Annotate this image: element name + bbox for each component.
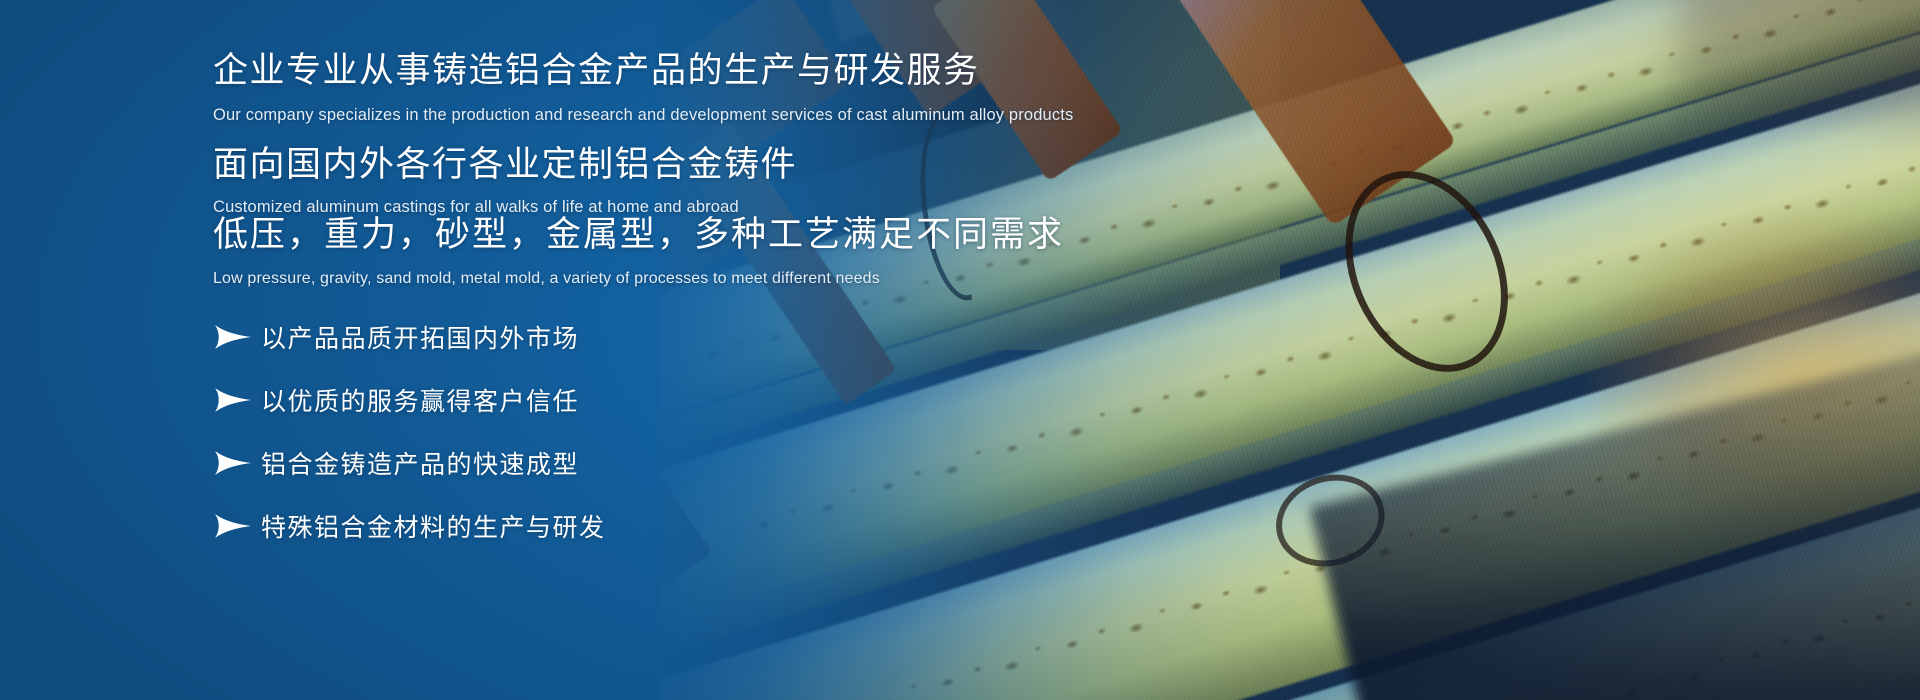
banner-content: 企业专业从事铸造铝合金产品的生产与研发服务 Our company specia…: [213, 0, 1613, 700]
arrow-right-icon: [213, 385, 261, 415]
hero-banner: 企业专业从事铸造铝合金产品的生产与研发服务 Our company specia…: [0, 0, 1920, 700]
arrow-right-icon: [213, 322, 261, 352]
bullet-label: 以优质的服务赢得客户信任: [261, 382, 579, 418]
headline-cn-3: 低压，重力，砂型，金属型，多种工艺满足不同需求: [213, 213, 1064, 257]
headline-block-3: 低压，重力，砂型，金属型，多种工艺满足不同需求 Low pressure, gr…: [213, 213, 1064, 288]
headline-en-3: Low pressure, gravity, sand mold, metal …: [213, 270, 1064, 288]
headline-cn-1: 企业专业从事铸造铝合金产品的生产与研发服务: [213, 49, 1073, 93]
arrow-right-icon: [213, 448, 261, 478]
arrow-right-icon: [213, 511, 261, 541]
headline-en-1: Our company specializes in the productio…: [213, 106, 1073, 125]
feature-bullet-list: 以产品品质开拓国内外市场 以优质的服务赢得客户信任 铝合金铸造产品的快速成型: [213, 318, 606, 545]
list-item[interactable]: 以产品品质开拓国内外市场: [213, 318, 606, 356]
list-item[interactable]: 铝合金铸造产品的快速成型: [213, 444, 606, 482]
bullet-label: 铝合金铸造产品的快速成型: [261, 445, 579, 481]
bullet-label: 以产品品质开拓国内外市场: [261, 319, 579, 355]
list-item[interactable]: 以优质的服务赢得客户信任: [213, 381, 606, 419]
bullet-label: 特殊铝合金材料的生产与研发: [261, 508, 606, 544]
list-item[interactable]: 特殊铝合金材料的生产与研发: [213, 507, 606, 545]
headline-block-2: 面向国内外各行各业定制铝合金铸件 Customized aluminum cas…: [213, 143, 797, 217]
headline-cn-2: 面向国内外各行各业定制铝合金铸件: [213, 143, 797, 187]
headline-block-1: 企业专业从事铸造铝合金产品的生产与研发服务 Our company specia…: [213, 49, 1073, 125]
